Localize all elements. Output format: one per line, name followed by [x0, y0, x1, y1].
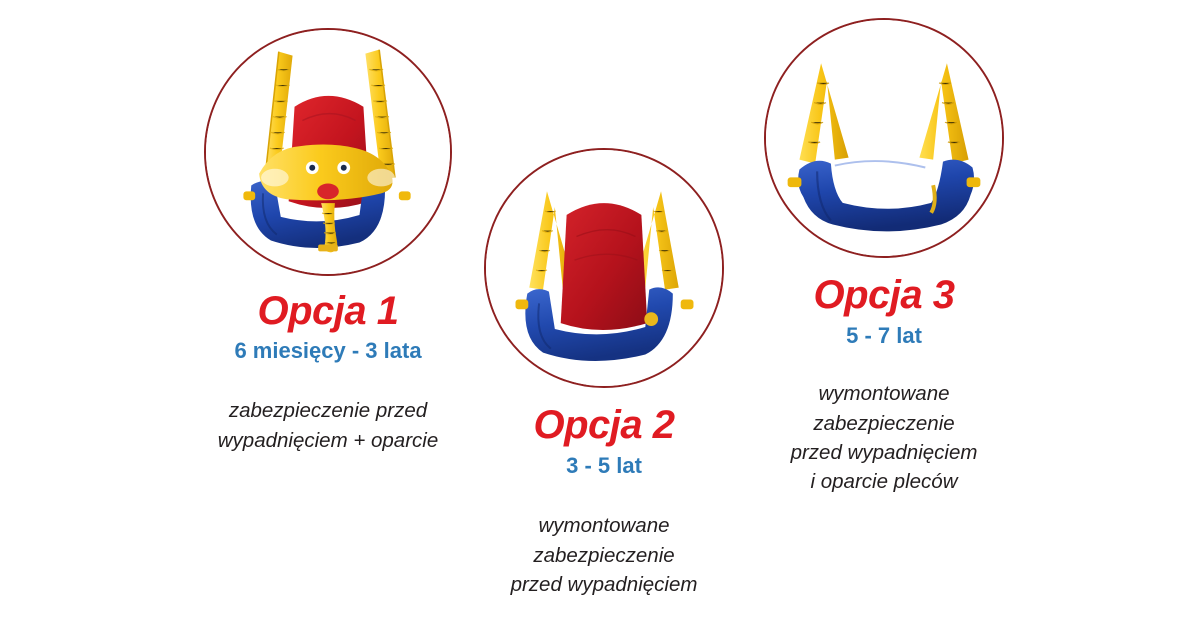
- swing-seat-with-backrest-no-safety-bar-image: [486, 150, 722, 386]
- product-photo-circle-3: [764, 18, 1004, 258]
- description-line: przed wypadnięciem: [722, 438, 1046, 467]
- description-line: wymontowane: [722, 379, 1046, 408]
- option-card-3: Opcja 3 5 - 7 lat wymontowane zabezpiecz…: [722, 18, 1046, 496]
- right-clip: [967, 177, 981, 187]
- bottom-peg: [318, 244, 338, 251]
- infographic-canvas: Opcja 1 6 miesięcy - 3 lata zabezpieczen…: [0, 0, 1200, 630]
- swing-seat-base-only-no-backrest-image: [766, 20, 1002, 256]
- description-line: zabezpieczenie: [442, 541, 766, 570]
- left-clip: [516, 299, 529, 309]
- right-clip: [399, 191, 411, 200]
- option-description-3: wymontowane zabezpieczenie przed wypadni…: [722, 379, 1046, 495]
- option-title-2: Opcja 2: [442, 404, 766, 446]
- description-line: wymontowane: [442, 511, 766, 540]
- option-description-2: wymontowane zabezpieczenie przed wypadni…: [442, 511, 766, 598]
- description-line: i oparcie pleców: [722, 467, 1046, 496]
- description-line: zabezpieczenie: [722, 409, 1046, 438]
- description-line: przed wypadnięciem: [442, 570, 766, 599]
- option-age-range-3: 5 - 7 lat: [722, 323, 1046, 349]
- left-clip: [243, 191, 255, 200]
- swing-seat-with-elephant-safety-bar-and-backrest-image: [206, 30, 450, 274]
- option-age-range-2: 3 - 5 lat: [442, 453, 766, 479]
- option-card-2: Opcja 2 3 - 5 lat wymontowane zabezpiecz…: [442, 148, 766, 599]
- right-clip: [681, 299, 694, 309]
- left-clip: [788, 177, 802, 187]
- side-knob: [644, 312, 658, 326]
- red-backrest: [561, 203, 648, 330]
- product-photo-circle-1: [204, 28, 452, 276]
- option-title-3: Opcja 3: [722, 274, 1046, 316]
- product-photo-circle-2: [484, 148, 724, 388]
